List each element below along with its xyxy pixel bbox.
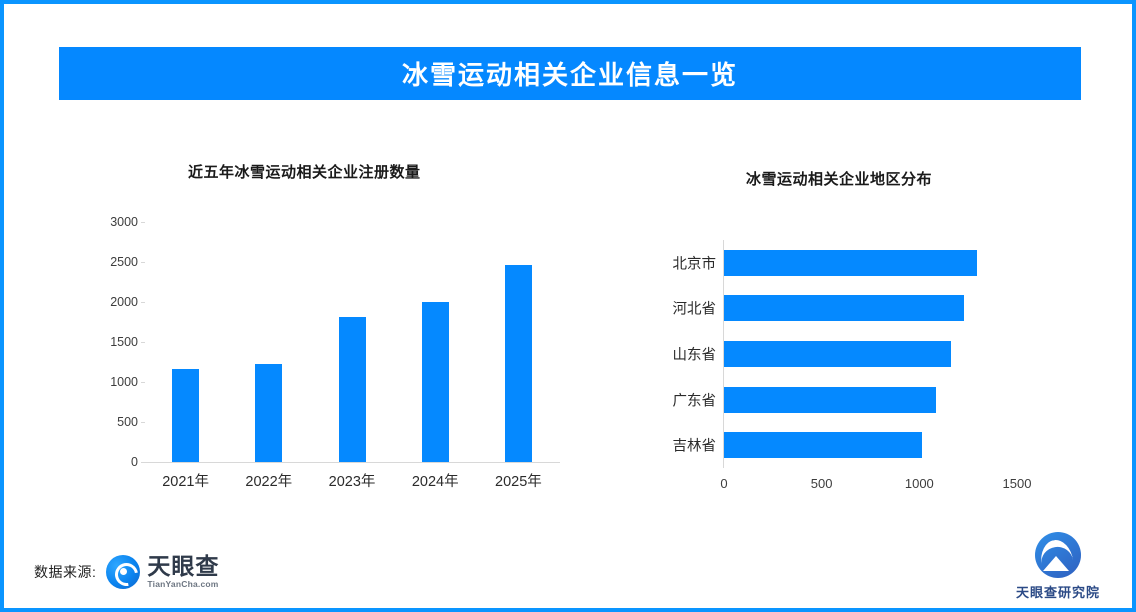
bar-category-label: 北京市 [644, 252, 716, 273]
y-axis-tick-label: 500 [100, 415, 138, 429]
horizontal-bar [724, 432, 922, 458]
data-source: 数据来源: 天眼查 TianYanCha.com [34, 555, 219, 589]
column-bar [172, 369, 199, 462]
category-labels: 北京市河北省山东省广东省吉林省 [644, 240, 716, 468]
y-axis-tick-label: 3000 [100, 215, 138, 229]
column-bar [339, 317, 366, 462]
tianyancha-logo: 天眼查 TianYanCha.com [106, 555, 219, 589]
y-axis-tick [141, 342, 145, 343]
registrations-column-chart: 050010001500200025003000 2021年2022年2023年… [100, 222, 570, 507]
y-axis-tick-label: 1500 [100, 335, 138, 349]
column-bar-cell [477, 222, 560, 462]
y-axis-tick-label: 2500 [100, 255, 138, 269]
y-axis-tick [141, 222, 145, 223]
data-source-label: 数据来源: [34, 562, 96, 582]
bar-row [724, 341, 1017, 367]
column-bar [422, 302, 449, 462]
x-axis-tick-label: 1000 [905, 476, 934, 491]
column-bars [144, 222, 560, 462]
horizontal-bar [724, 295, 964, 321]
x-axis-labels: 2021年2022年2023年2024年2025年 [144, 470, 560, 491]
x-axis-category-label: 2022年 [227, 470, 310, 491]
y-axis-tick [141, 462, 145, 463]
column-bar-cell [394, 222, 477, 462]
bar-category-label: 河北省 [644, 298, 716, 319]
tianyancha-name-en: TianYanCha.com [147, 580, 219, 589]
bar-row [724, 250, 1017, 276]
horizontal-bars [724, 240, 1017, 468]
horizontal-bar [724, 387, 936, 413]
column-bar [505, 265, 532, 462]
y-axis-tick-label: 1000 [100, 375, 138, 389]
y-axis-tick-label: 0 [100, 455, 138, 469]
x-axis-tick-labels: 050010001500 [724, 476, 1017, 496]
bar-category-label: 吉林省 [644, 435, 716, 456]
page-title: 冰雪运动相关企业信息一览 [402, 55, 738, 92]
column-bar-cell [227, 222, 310, 462]
x-axis-category-label: 2024年 [394, 470, 477, 491]
tianyancha-eye-icon [106, 555, 140, 589]
research-institute-icon [1035, 532, 1081, 578]
bar-row [724, 387, 1017, 413]
y-axis-tick-label: 2000 [100, 295, 138, 309]
horizontal-bar [724, 341, 951, 367]
right-chart-title: 冰雪运动相关企业地区分布 [746, 168, 932, 189]
bar-row [724, 295, 1017, 321]
region-bar-chart: 北京市河北省山东省广东省吉林省 050010001500 [644, 236, 1044, 506]
x-axis-category-label: 2023年 [310, 470, 393, 491]
x-axis-tick-label: 1500 [1003, 476, 1032, 491]
tianyancha-wordmark: 天眼查 TianYanCha.com [147, 555, 219, 589]
research-institute-brand: 天眼查研究院 [1008, 532, 1108, 601]
x-axis-tick-label: 500 [811, 476, 833, 491]
header-banner: 冰雪运动相关企业信息一览 [59, 47, 1081, 100]
research-institute-name: 天眼查研究院 [1016, 582, 1100, 601]
column-bar-cell [310, 222, 393, 462]
y-axis-tick [141, 422, 145, 423]
left-chart-title: 近五年冰雪运动相关企业注册数量 [188, 161, 421, 182]
horizontal-bar [724, 250, 977, 276]
y-axis-labels: 050010001500200025003000 [100, 222, 138, 462]
y-axis-tick [141, 302, 145, 303]
tianyancha-name-cn: 天眼查 [147, 555, 219, 578]
x-axis-line [144, 462, 560, 463]
bar-row [724, 432, 1017, 458]
infographic-page: 冰雪运动相关企业信息一览 近五年冰雪运动相关企业注册数量 冰雪运动相关企业地区分… [0, 0, 1136, 612]
x-axis-tick-label: 0 [720, 476, 727, 491]
x-axis-category-label: 2021年 [144, 470, 227, 491]
bar-category-label: 山东省 [644, 344, 716, 365]
y-axis-tick [141, 382, 145, 383]
column-bar [255, 364, 282, 462]
y-axis-tick [141, 262, 145, 263]
x-axis-category-label: 2025年 [477, 470, 560, 491]
column-bar-cell [144, 222, 227, 462]
bar-category-label: 广东省 [644, 389, 716, 410]
